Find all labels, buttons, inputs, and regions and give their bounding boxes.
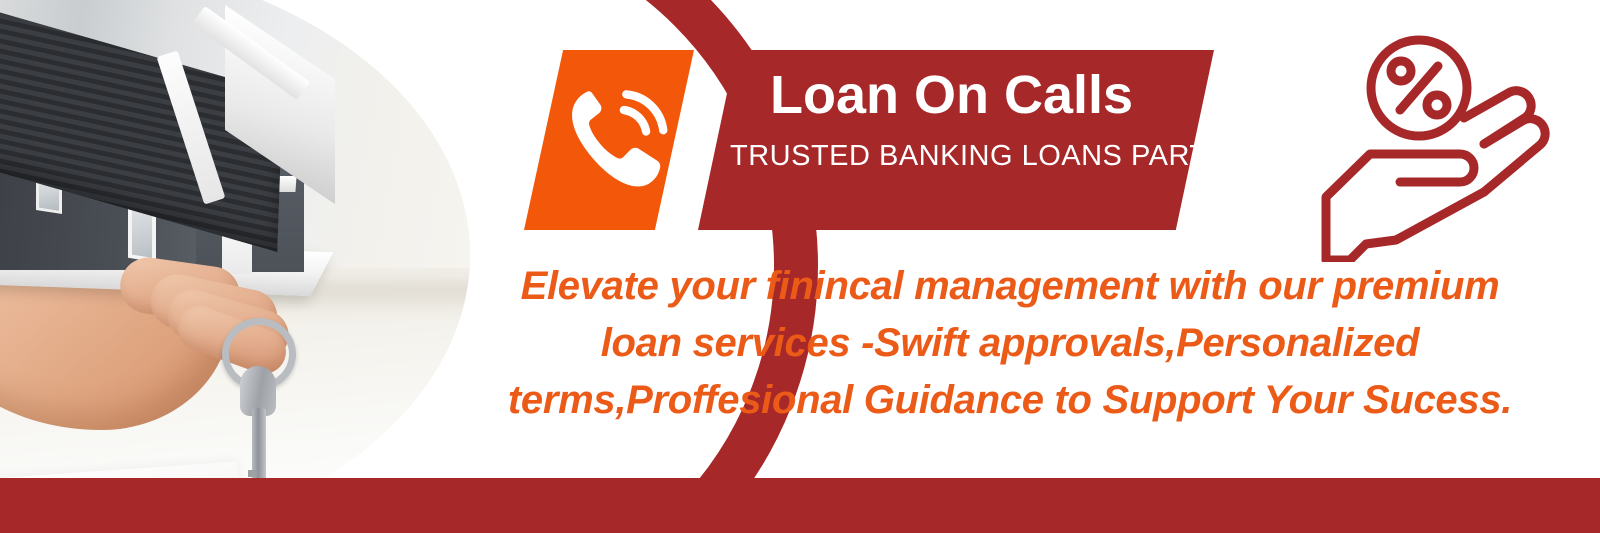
tagline: Elevate your finincal management with ou… [470,258,1550,428]
percent-slash [1400,66,1438,110]
tagline-line-1: Elevate your finincal management with ou… [470,258,1550,315]
percent-in-hand-icon [1288,32,1558,262]
tagline-line-2: loan services -Swift approvals,Personali… [470,315,1550,372]
brand-logo[interactable]: Loan On Calls TRUSTED BANKING LOANS PART… [524,50,1214,230]
phone-call-icon [564,85,672,195]
percent-dot-upper [1391,61,1411,81]
tagline-line-3: terms,Proffesional Guidance to Support Y… [470,372,1550,429]
hero-photo-clip [0,0,470,533]
logo-title: Loan On Calls [770,68,1133,122]
hand-outer-edge [1350,192,1484,260]
red-bottom-bar [0,478,1600,533]
logo-subtitle: TRUSTED BANKING LOANS PARTNER [730,142,1270,171]
promo-banner: Loan On Calls TRUSTED BANKING LOANS PART… [0,0,1600,533]
percent-dot-lower [1427,95,1447,115]
photo-key-tooth [248,470,256,477]
hero-photo [0,0,470,533]
hand-finger-lower [1484,119,1545,192]
